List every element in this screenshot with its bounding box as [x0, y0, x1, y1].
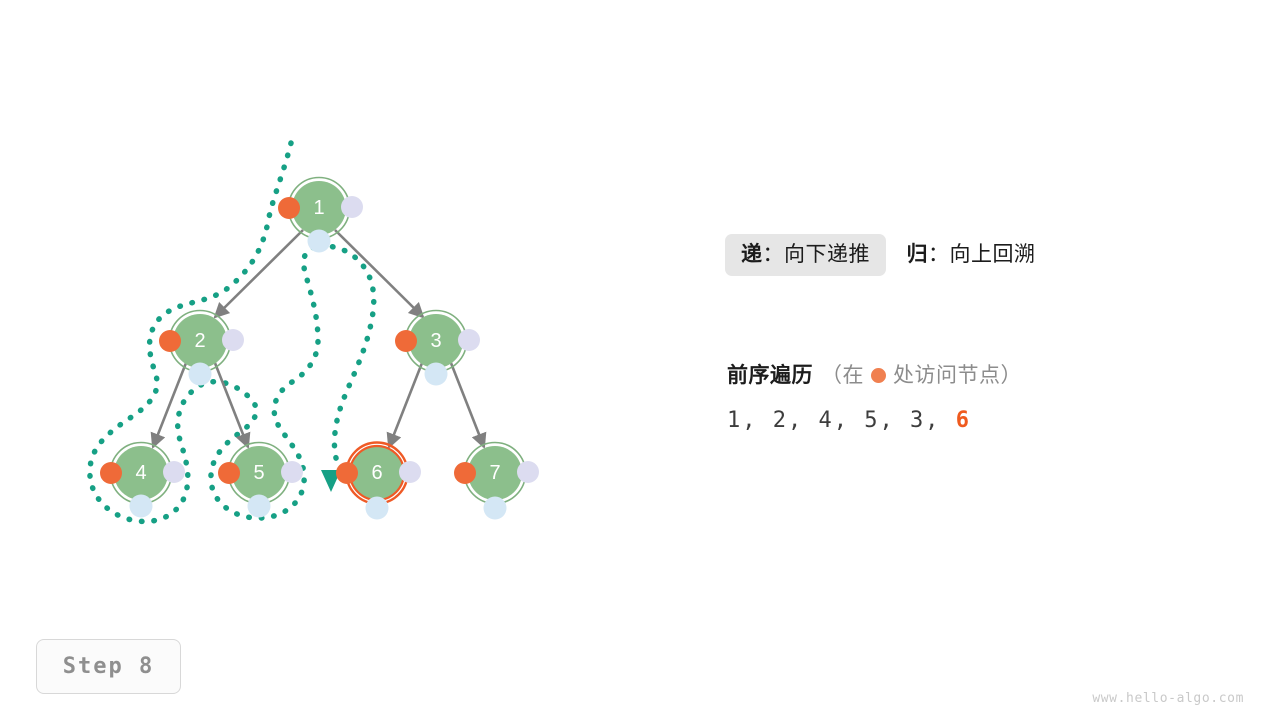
- node-pre-marker-dot: [218, 462, 240, 484]
- node-label: 6: [371, 462, 382, 484]
- node-label: 7: [489, 462, 500, 484]
- traversal-block: 前序遍历 （在 处访问节点） 1, 2, 4, 5, 3, 6: [727, 360, 1247, 433]
- legend-panel: 递 ：向下递推 归 ：向上回溯: [727, 232, 1247, 276]
- tree-node-5[interactable]: 5: [218, 443, 303, 518]
- tree-node-3[interactable]: 3: [395, 311, 480, 386]
- node-in-marker-dot: [130, 495, 153, 518]
- legend-backtrack-text: ：向上回溯: [928, 244, 1036, 265]
- node-pre-marker-dot: [395, 330, 417, 352]
- edge-2-5: [215, 363, 248, 447]
- node-post-marker-dot: [458, 329, 480, 351]
- node-in-marker-dot: [366, 497, 389, 520]
- legend-backtrack-label: 归: [906, 244, 928, 265]
- node-pre-marker-dot: [336, 462, 358, 484]
- legend-recurse-label: 递: [741, 244, 763, 265]
- traversal-sequence-visited: 1, 2, 4, 5, 3,: [727, 408, 956, 433]
- node-label: 3: [430, 330, 441, 352]
- node-post-marker-dot: [163, 461, 185, 483]
- traversal-sequence: 1, 2, 4, 5, 3, 6: [727, 408, 1247, 433]
- node-label: 2: [194, 330, 205, 352]
- node-in-marker-dot: [484, 497, 507, 520]
- node-pre-marker-dot: [278, 197, 300, 219]
- tree-node-2[interactable]: 2: [159, 311, 244, 386]
- edge-1-2: [215, 230, 303, 317]
- traversal-note-suffix: 处访问节点）: [893, 359, 1022, 389]
- edge-1-3: [335, 230, 423, 317]
- tree-node-7[interactable]: 7: [454, 443, 539, 520]
- node-pre-marker-dot: [159, 330, 181, 352]
- node-in-marker-dot: [189, 363, 212, 386]
- tree-node-4[interactable]: 4: [100, 443, 185, 518]
- node-post-marker-dot: [222, 329, 244, 351]
- traversal-note: （在 处访问节点）: [821, 359, 1022, 389]
- tree-nodes: 1 2 3 4: [100, 178, 539, 520]
- edge-2-4: [153, 363, 186, 447]
- orange-dot-icon: [871, 368, 886, 383]
- node-label: 4: [135, 462, 146, 484]
- traversal-sequence-current: 6: [956, 408, 971, 433]
- node-in-marker-dot: [308, 230, 331, 253]
- edge-3-6: [389, 363, 422, 447]
- legend-item-recurse: 递 ：向下递推: [725, 234, 886, 276]
- step-badge: Step 8: [36, 639, 181, 694]
- node-pre-marker-dot: [454, 462, 476, 484]
- watermark: www.hello-algo.com: [1092, 691, 1244, 706]
- traversal-title: 前序遍历 （在 处访问节点）: [727, 360, 1247, 388]
- binary-tree-diagram: 1 2 3 4: [0, 0, 700, 600]
- node-in-marker-dot: [425, 363, 448, 386]
- node-post-marker-dot: [399, 461, 421, 483]
- node-in-marker-dot: [248, 495, 271, 518]
- node-post-marker-dot: [517, 461, 539, 483]
- tree-node-6[interactable]: 6: [336, 443, 421, 520]
- node-pre-marker-dot: [100, 462, 122, 484]
- legend-recurse-text: ：向下递推: [763, 244, 871, 265]
- node-label: 5: [253, 462, 264, 484]
- legend-item-backtrack: 归 ：向上回溯: [890, 232, 1051, 276]
- traversal-title-text: 前序遍历: [727, 359, 813, 389]
- node-post-marker-dot: [281, 461, 303, 483]
- edge-3-7: [451, 363, 484, 447]
- traversal-note-prefix: （在: [821, 359, 864, 389]
- node-label: 1: [313, 197, 324, 219]
- node-post-marker-dot: [341, 196, 363, 218]
